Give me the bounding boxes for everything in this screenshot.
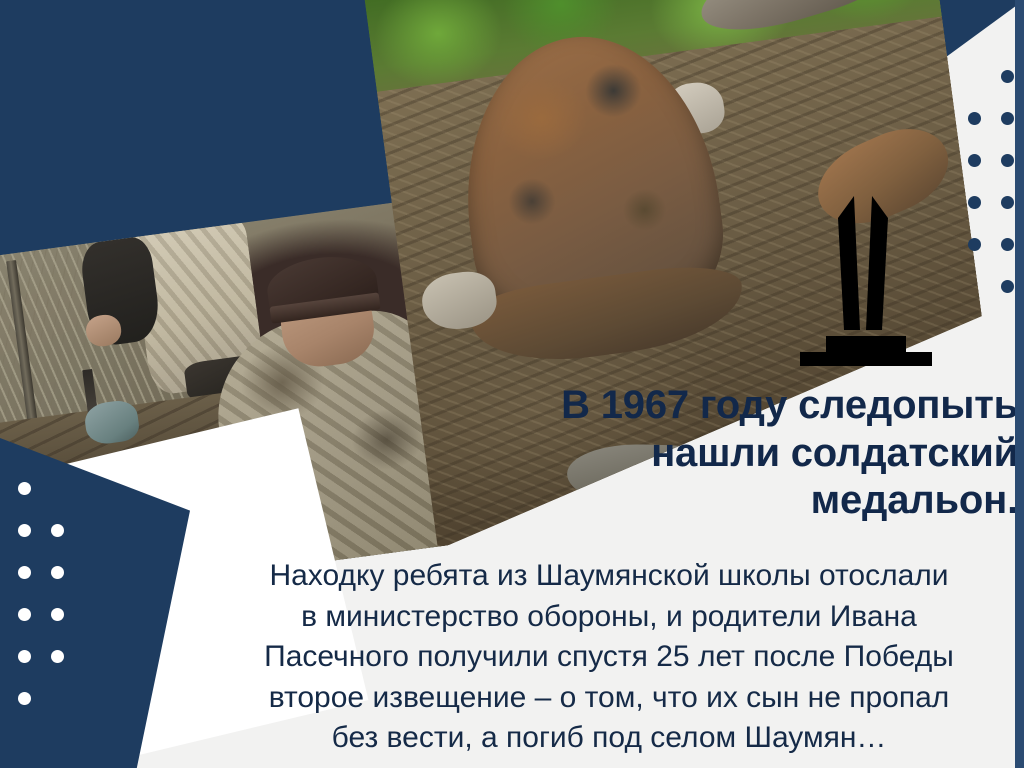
dot xyxy=(51,608,64,621)
dot xyxy=(1001,70,1014,83)
dot xyxy=(18,608,31,621)
headline-line-2: нашли солдатский xyxy=(430,430,1018,478)
dot xyxy=(1001,196,1014,209)
dot xyxy=(1001,154,1014,167)
headline-line-1: В 1967 году следопыть xyxy=(430,382,1018,430)
obelisk-monument-icon xyxy=(766,188,966,368)
dot xyxy=(18,692,31,705)
body-line-3: Пасечного получили спустя 25 лет после П… xyxy=(200,637,1018,678)
dot xyxy=(968,154,981,167)
dot xyxy=(1001,280,1014,293)
dot xyxy=(18,482,31,495)
headline: В 1967 году следопыть нашли солдатский м… xyxy=(430,382,1018,525)
body-paragraph: Находку ребята из Шаумянской школы отосл… xyxy=(200,556,1018,759)
body-line-5: без вести, а погиб под селом Шаумян… xyxy=(200,718,1018,759)
dot xyxy=(968,196,981,209)
dot xyxy=(968,112,981,125)
dot xyxy=(1001,238,1014,251)
dot xyxy=(51,524,64,537)
dot xyxy=(51,566,64,579)
body-line-4: второе извещение – о том, что их сын не … xyxy=(200,678,1018,719)
slide-canvas: В 1967 году следопыть нашли солдатский м… xyxy=(0,0,1024,768)
dot xyxy=(51,650,64,663)
headline-line-3: медальон. xyxy=(430,477,1018,525)
dot xyxy=(18,566,31,579)
body-line-2: в министерство обороны, и родители Ивана xyxy=(200,597,1018,638)
dot xyxy=(18,650,31,663)
dot xyxy=(1001,112,1014,125)
dot xyxy=(18,524,31,537)
dot xyxy=(968,238,981,251)
body-line-1: Находку ребята из Шаумянской школы отосл… xyxy=(200,556,1018,597)
right-edge-strip xyxy=(1015,0,1024,768)
